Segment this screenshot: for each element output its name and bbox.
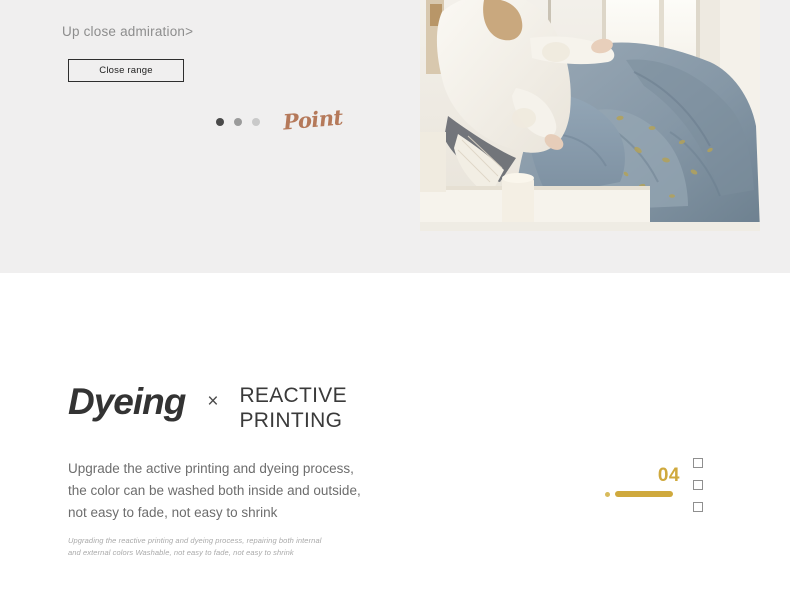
checkbox-1[interactable] [693, 458, 703, 468]
hero-lifestyle-photo [420, 0, 760, 231]
close-range-button[interactable]: Close range [68, 59, 184, 82]
feature-subtext: Upgrading the reactive printing and dyei… [68, 535, 321, 558]
point-script-accent: Point [282, 104, 344, 134]
carousel-dot-3[interactable] [252, 118, 260, 126]
headline-line-2: PRINTING [239, 409, 342, 432]
headline-dyeing: Dyeing [68, 383, 185, 420]
step-counter: 04 [605, 466, 680, 504]
hero-section: Up close admiration> Close range Point [0, 0, 790, 273]
hero-eyebrow-link[interactable]: Up close admiration> [62, 24, 193, 39]
photo-artwork [420, 0, 760, 231]
progress-pip-icon [605, 492, 610, 497]
progress-indicator[interactable] [605, 491, 673, 497]
feature-headline: Dyeing × REACTIVE PRINTING [68, 383, 347, 434]
close-range-button-label: Close range [99, 65, 152, 76]
checkbox-group[interactable] [693, 458, 703, 512]
hero-text-column: Up close admiration> Close range Point [0, 0, 420, 273]
multiply-icon: × [207, 392, 218, 411]
feature-section: Dyeing × REACTIVE PRINTING Upgrade the a… [0, 273, 790, 592]
checkbox-2[interactable] [693, 480, 703, 490]
carousel-dot-active[interactable] [216, 118, 224, 126]
step-number: 04 [658, 466, 680, 485]
feature-body-text: Upgrade the active printing and dyeing p… [68, 458, 361, 524]
headline-line-1: REACTIVE [239, 384, 346, 407]
checkbox-3[interactable] [693, 502, 703, 512]
carousel-dot-2[interactable] [234, 118, 242, 126]
carousel-dots[interactable] [216, 118, 260, 126]
progress-bar-fill[interactable] [615, 491, 673, 497]
headline-reactive-printing: REACTIVE PRINTING [239, 384, 346, 434]
